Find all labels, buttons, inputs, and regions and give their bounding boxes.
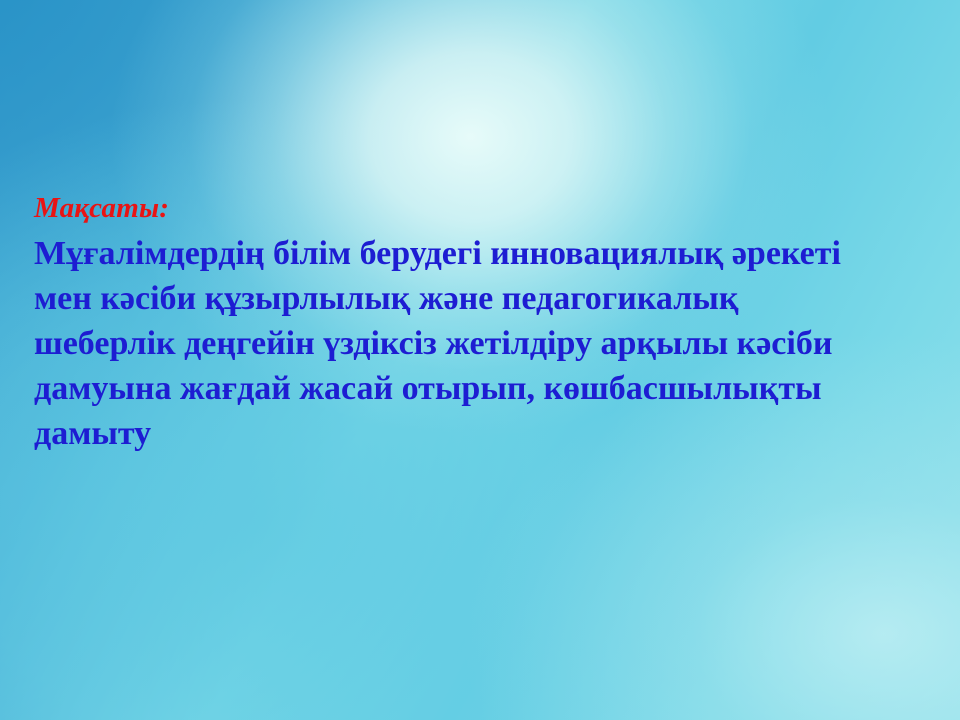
slide-body-line-3: шеберлік деңгейін үздіксіз жетілдіру арқ…: [34, 321, 942, 366]
slide-body-line-5: дамыту: [34, 411, 942, 456]
slide-text-block: Мақсаты: Мұғалімдердің білім берудегі ин…: [34, 186, 942, 456]
slide-body-line-1: Мұғалімдердің білім берудегі инновациялы…: [34, 231, 942, 276]
slide-canvas: Мақсаты: Мұғалімдердің білім берудегі ин…: [0, 0, 960, 720]
slide-body-line-2: мен кәсіби құзырлылық және педагогикалық: [34, 276, 942, 321]
slide-heading: Мақсаты:: [34, 186, 942, 231]
slide-body-line-4: дамуына жағдай жасай отырып, көшбасшылық…: [34, 366, 942, 411]
